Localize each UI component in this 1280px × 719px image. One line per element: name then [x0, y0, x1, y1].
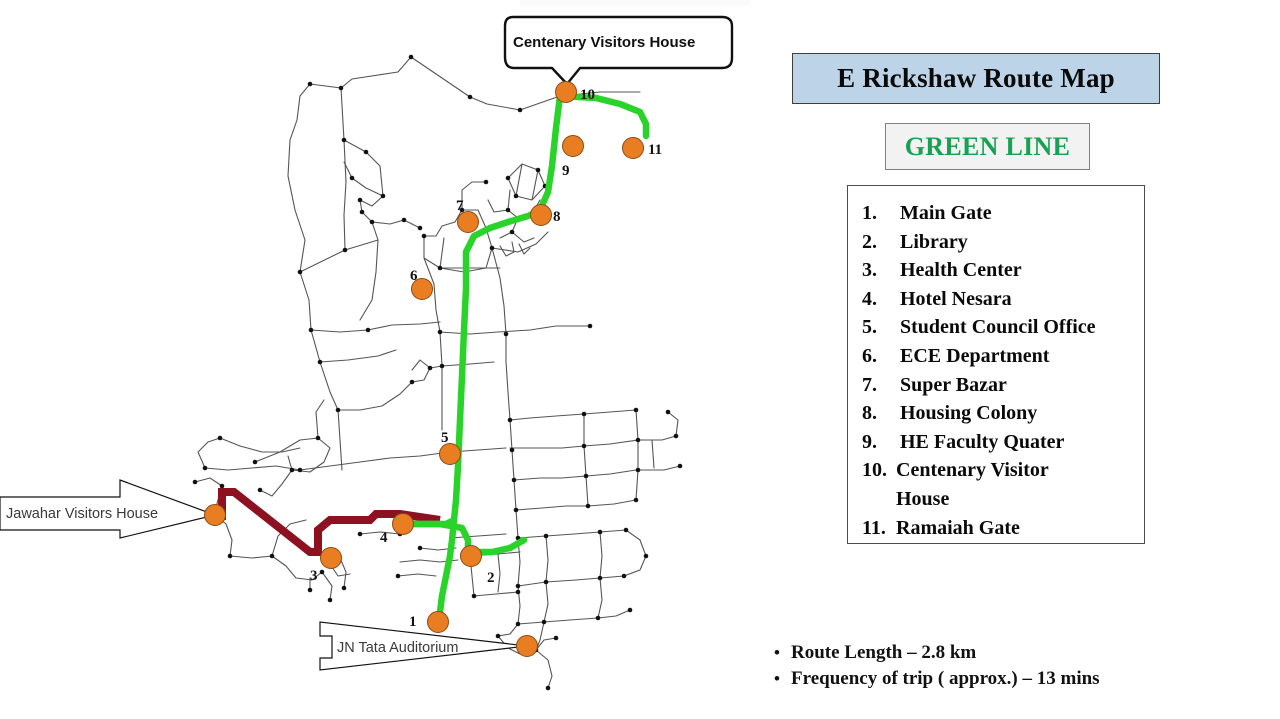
map-stop-marker[interactable] [320, 547, 342, 569]
jawahar-visitors-house-label: Jawahar Visitors House [6, 506, 158, 522]
road-nodes [193, 55, 683, 691]
map-stop-marker[interactable] [622, 137, 644, 159]
bullet-icon: • [763, 640, 791, 666]
legend-item-label: Ramaiah Gate [896, 514, 1144, 543]
map-stop-number: 3 [310, 568, 318, 585]
stops-legend-box: 1.Main Gate2.Library3.Health Center4.Hot… [847, 185, 1145, 544]
map-stop-number: 9 [562, 163, 570, 180]
legend-item-number: 6. [862, 342, 900, 371]
legend-item: 4.Hotel Nesara [848, 285, 1144, 314]
map-stop-marker[interactable] [392, 513, 414, 535]
line-name: GREEN LINE [905, 132, 1071, 162]
map-stop-number: 4 [380, 530, 388, 547]
map-stop-marker[interactable] [555, 81, 577, 103]
route-fact-row: •Route Length – 2.8 km [760, 640, 1280, 666]
legend-item: 7.Super Bazar [848, 371, 1144, 400]
legend-item-label: Health Center [900, 256, 1144, 285]
legend-item-number: 5. [862, 313, 900, 342]
jn-tata-auditorium-label: JN Tata Auditorium [337, 640, 458, 656]
map-stop-marker[interactable] [427, 611, 449, 633]
campus-route-map: 1234567891011 Centenary Visitors House J… [0, 0, 760, 719]
centenary-callout-label: Centenary Visitors House [513, 34, 695, 51]
legend-item-label: HE Faculty Quater [900, 428, 1144, 457]
line-name-box: GREEN LINE [885, 123, 1090, 170]
route-facts: •Route Length – 2.8 km•Frequency of trip… [760, 640, 1280, 692]
legend-item: 6.ECE Department [848, 342, 1144, 371]
map-stop-marker[interactable] [516, 635, 538, 657]
map-stop-number: 10 [580, 87, 595, 104]
map-stop-number: 7 [456, 198, 464, 215]
legend-item-number: 10. [862, 456, 896, 485]
legend-item: 5.Student Council Office [848, 313, 1144, 342]
legend-item-label: Centenary Visitor House [896, 456, 1144, 513]
legend-item: 8.Housing Colony [848, 399, 1144, 428]
legend-item: 11.Ramaiah Gate [848, 514, 1144, 543]
map-stop-marker[interactable] [204, 504, 226, 526]
map-stop-marker[interactable] [562, 135, 584, 157]
legend-item-label: ECE Department [900, 342, 1144, 371]
map-stop-marker[interactable] [530, 204, 552, 226]
info-panel: E Rickshaw Route Map GREEN LINE 1.Main G… [760, 0, 1280, 719]
legend-item-number: 7. [862, 371, 900, 400]
route-fact-text: Route Length – 2.8 km [791, 640, 976, 666]
route-fact-row: •Frequency of trip ( approx.) – 13 mins [760, 666, 1280, 692]
map-graphic [0, 0, 760, 719]
legend-item: 9.HE Faculty Quater [848, 428, 1144, 457]
legend-item-label: Main Gate [900, 199, 1144, 228]
legend-item: 3.Health Center [848, 256, 1144, 285]
map-stop-number: 1 [409, 614, 417, 631]
stops-legend-list: 1.Main Gate2.Library3.Health Center4.Hot… [848, 186, 1144, 542]
legend-item: 1.Main Gate [848, 199, 1144, 228]
map-stop-number: 11 [648, 142, 662, 159]
legend-item-label: Housing Colony [900, 399, 1144, 428]
legend-item-number: 11. [862, 514, 896, 543]
legend-item-number: 8. [862, 399, 900, 428]
legend-item: 2.Library [848, 228, 1144, 257]
road-network [195, 57, 680, 688]
bullet-icon: • [763, 666, 791, 692]
route-fact-text: Frequency of trip ( approx.) – 13 mins [791, 666, 1100, 692]
legend-item-label: Student Council Office [900, 313, 1144, 342]
legend-item-number: 4. [862, 285, 900, 314]
green-route-line [400, 96, 646, 612]
legend-item-label: Hotel Nesara [900, 285, 1144, 314]
page-title: E Rickshaw Route Map [837, 63, 1115, 94]
legend-item: 10.Centenary Visitor House [848, 456, 1144, 513]
legend-item-number: 9. [862, 428, 900, 457]
map-stop-number: 2 [487, 570, 495, 587]
legend-item-number: 2. [862, 228, 900, 257]
route-map-title-box: E Rickshaw Route Map [792, 53, 1160, 104]
legend-item-label: Library [900, 228, 1144, 257]
map-stop-number: 6 [410, 268, 418, 285]
map-stop-number: 5 [441, 430, 449, 447]
legend-item-label: Super Bazar [900, 371, 1144, 400]
legend-item-number: 1. [862, 199, 900, 228]
legend-item-number: 3. [862, 256, 900, 285]
map-stop-number: 8 [553, 209, 561, 226]
map-stop-marker[interactable] [460, 545, 482, 567]
